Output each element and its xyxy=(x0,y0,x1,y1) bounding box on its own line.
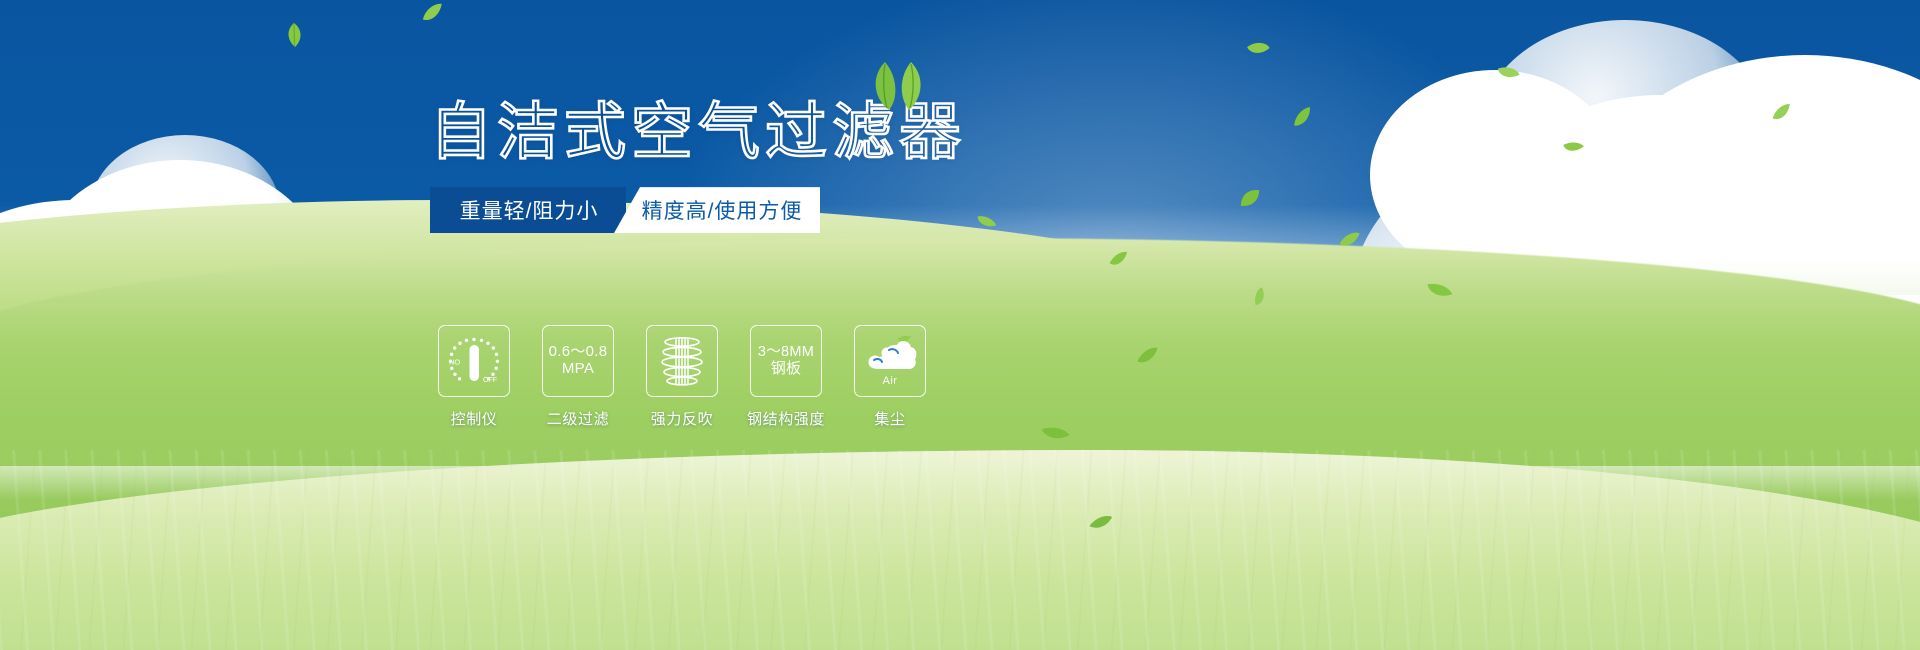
page-title: 自洁式空气过滤器 xyxy=(430,100,1210,165)
feature-text-line-2: MPA xyxy=(562,361,594,378)
feature-label: 强力反吹 xyxy=(651,408,713,429)
tagline-badge-primary: 重量轻/阻力小 xyxy=(430,187,626,233)
floating-leaf-icon xyxy=(1288,103,1318,131)
feature-text-line-2: 钢板 xyxy=(771,361,802,378)
feature-item-control-gauge[interactable]: NO OFF 控制仪 xyxy=(438,325,510,429)
floating-leaf-icon xyxy=(1494,60,1523,85)
feature-item-steel-strength[interactable]: 3～8MM 钢板 钢结构强度 xyxy=(750,325,822,429)
filter-cartridge-icon xyxy=(656,333,708,389)
floating-leaf-icon xyxy=(283,22,305,48)
feature-label: 控制仪 xyxy=(451,408,498,429)
sprout-leaves-icon xyxy=(863,56,933,112)
cloud-right-6 xyxy=(1480,20,1770,240)
grass-foreground xyxy=(0,450,1920,650)
feature-caption: Air xyxy=(883,375,898,387)
hero-banner: 自洁式空气过滤器 重量轻/阻力小 精度高/使用方便 xyxy=(0,0,1920,650)
tagline-badges: 重量轻/阻力小 精度高/使用方便 xyxy=(430,187,820,233)
feature-icon-box xyxy=(646,325,718,397)
feature-list: NO OFF 控制仪 0.6～0.8 MPA 二级过滤 xyxy=(438,325,926,429)
gauge-off-label: OFF xyxy=(483,377,497,384)
gauge-on-label: NO xyxy=(449,358,460,367)
tagline-badge-secondary: 精度高/使用方便 xyxy=(614,187,820,233)
feature-item-reverse-blow[interactable]: 强力反吹 xyxy=(646,325,718,429)
feature-text-line-1: 3～8MM xyxy=(758,344,814,360)
feature-icon-box: Air xyxy=(854,325,926,397)
gauge-dial-icon: NO OFF xyxy=(445,333,503,389)
floating-leaf-icon xyxy=(1560,137,1586,158)
feature-label: 二级过滤 xyxy=(547,408,609,429)
tagline-secondary-text: 精度高/使用方便 xyxy=(642,195,803,225)
hero-content: 自洁式空气过滤器 重量轻/阻力小 精度高/使用方便 xyxy=(430,100,1210,233)
feature-label: 钢结构强度 xyxy=(747,408,825,429)
feature-icon-box: 3～8MM 钢板 xyxy=(750,325,822,397)
feature-icon-box: 0.6～0.8 MPA xyxy=(542,325,614,397)
tagline-primary-text: 重量轻/阻力小 xyxy=(460,195,599,225)
feature-item-two-stage-filter[interactable]: 0.6～0.8 MPA 二级过滤 xyxy=(542,325,614,429)
air-cloud-icon xyxy=(862,336,918,378)
floating-leaf-icon xyxy=(1234,182,1267,214)
floating-leaf-icon xyxy=(1244,37,1272,61)
feature-item-dust-collection[interactable]: Air 集尘 xyxy=(854,325,926,429)
feature-icon-box: NO OFF xyxy=(438,325,510,397)
floating-leaf-icon xyxy=(418,0,448,26)
feature-text-line-1: 0.6～0.8 xyxy=(549,344,608,361)
floating-leaf-icon xyxy=(1768,100,1796,125)
feature-label: 集尘 xyxy=(874,408,905,429)
